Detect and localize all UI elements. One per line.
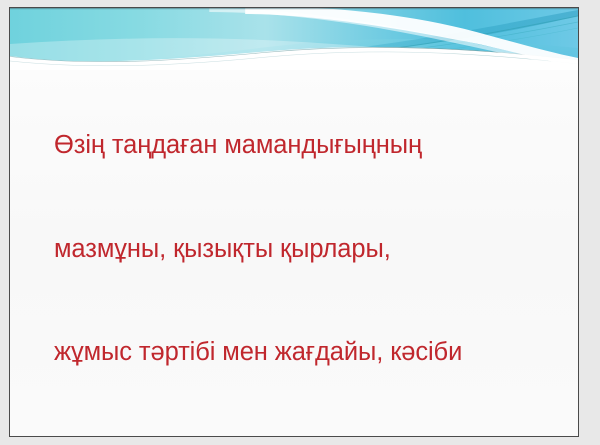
presentation-slide: Өзің таңдаған мамандығыңның мазмұны, қыз… [9, 7, 579, 437]
body-text-line: мазмұны, қызықты қырлары, [54, 232, 559, 267]
slide-background: Өзің таңдаған мамандығыңның мазмұны, қыз… [10, 8, 578, 436]
body-text-line: жұмыс тәртібі мен жағдайы, кәсіби [54, 335, 559, 370]
slide-body-text: Өзің таңдаған мамандығыңның мазмұны, қыз… [54, 59, 559, 437]
body-text-line: Өзің таңдаған мамандығыңның [54, 128, 559, 163]
